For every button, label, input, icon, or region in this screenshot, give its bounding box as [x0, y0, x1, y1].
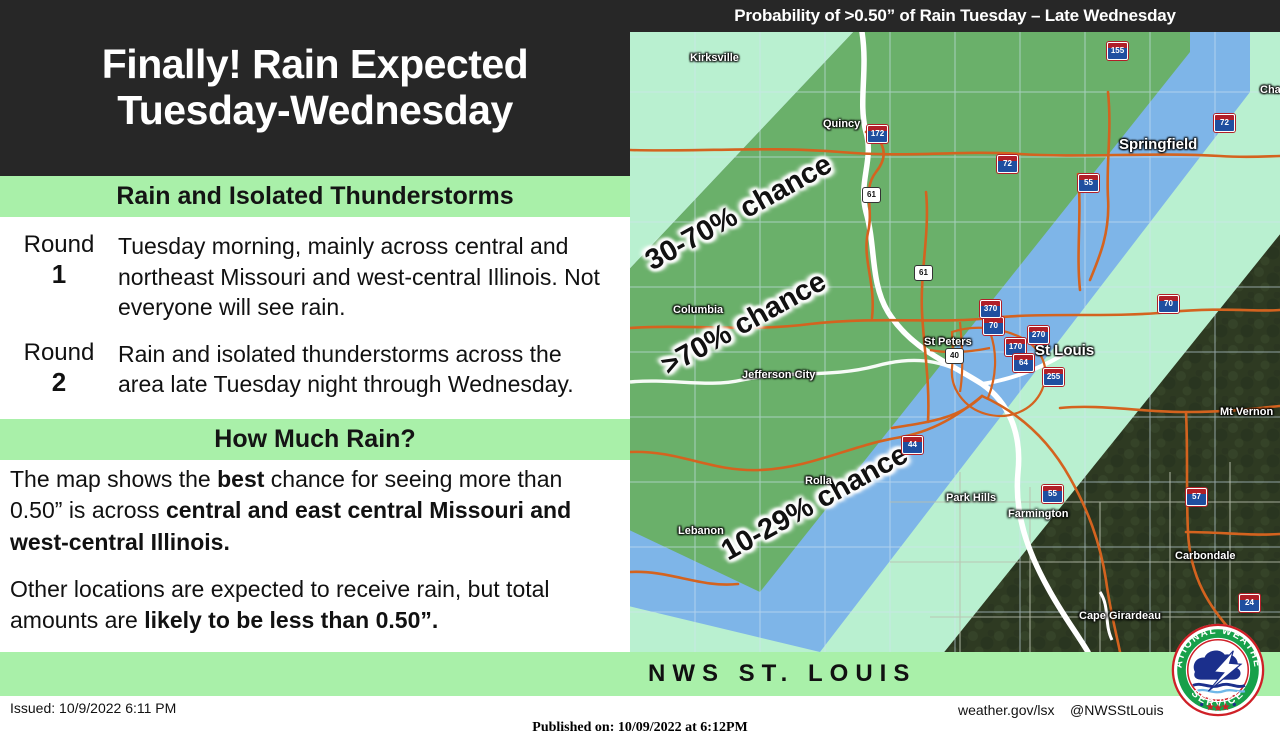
round-2-text: Rain and isolated thunderstorms across t…	[118, 339, 630, 400]
headline-line-1: Finally! Rain Expected	[102, 42, 528, 88]
title-block: Finally! Rain Expected Tuesday-Wednesday	[0, 0, 630, 176]
twitter-handle[interactable]: @NWSStLouis	[1070, 702, 1164, 718]
round-item: Round 1 Tuesday morning, mainly across c…	[0, 219, 630, 323]
left-info-panel: Finally! Rain Expected Tuesday-Wednesday…	[0, 0, 630, 740]
rain-paragraph-2: Other locations are expected to receive …	[10, 574, 608, 637]
round-2-word: Round	[24, 339, 95, 366]
section-header-how-much-rain: How Much Rain?	[0, 419, 630, 460]
nws-banner-label: NWS ST. LOUIS	[648, 660, 916, 688]
section-header-how-much-rain-label: How Much Rain?	[214, 425, 415, 454]
issued-timestamp: Issued: 10/9/2022 6:11 PM	[10, 700, 176, 716]
round-1-label: Round 1	[0, 231, 118, 290]
map-title-bar: Probability of >0.50” of Rain Tuesday – …	[630, 0, 1280, 32]
round-1-word: Round	[24, 231, 95, 258]
rain-p1-seg-a: The map shows the	[10, 466, 217, 492]
rain-paragraph-1: The map shows the best chance for seeing…	[10, 464, 608, 558]
map-graphic	[630, 32, 1280, 652]
probability-map[interactable]: 30-70% chance >70% chance 10-29% chance …	[630, 32, 1280, 652]
nws-logo: NATIONAL WEATHER SERVICE	[1170, 622, 1266, 718]
rain-p1-bold-best: best	[217, 466, 264, 492]
round-2-label: Round 2	[0, 339, 118, 398]
round-2-number: 2	[0, 367, 118, 398]
round-1-number: 1	[0, 259, 118, 290]
round-item: Round 2 Rain and isolated thunderstorms …	[0, 323, 630, 400]
published-timestamp: Published on: 10/09/2022 at 6:12PM	[0, 720, 1280, 736]
section-header-rain-thunderstorms: Rain and Isolated Thunderstorms	[0, 176, 630, 217]
rain-p2-bold-less: likely to be less than 0.50”.	[144, 607, 438, 633]
section-header-rain-thunderstorms-label: Rain and Isolated Thunderstorms	[116, 182, 513, 211]
rounds-list: Round 1 Tuesday morning, mainly across c…	[0, 219, 630, 417]
headline-line-2: Tuesday-Wednesday	[117, 88, 513, 134]
weather-graphic: Finally! Rain Expected Tuesday-Wednesday…	[0, 0, 1280, 740]
round-1-text: Tuesday morning, mainly across central a…	[118, 231, 630, 323]
left-bottom-accent-band	[0, 652, 630, 696]
rain-amount-body: The map shows the best chance for seeing…	[0, 464, 630, 652]
weather-gov-link[interactable]: weather.gov/lsx	[958, 702, 1055, 718]
map-title: Probability of >0.50” of Rain Tuesday – …	[734, 6, 1176, 26]
